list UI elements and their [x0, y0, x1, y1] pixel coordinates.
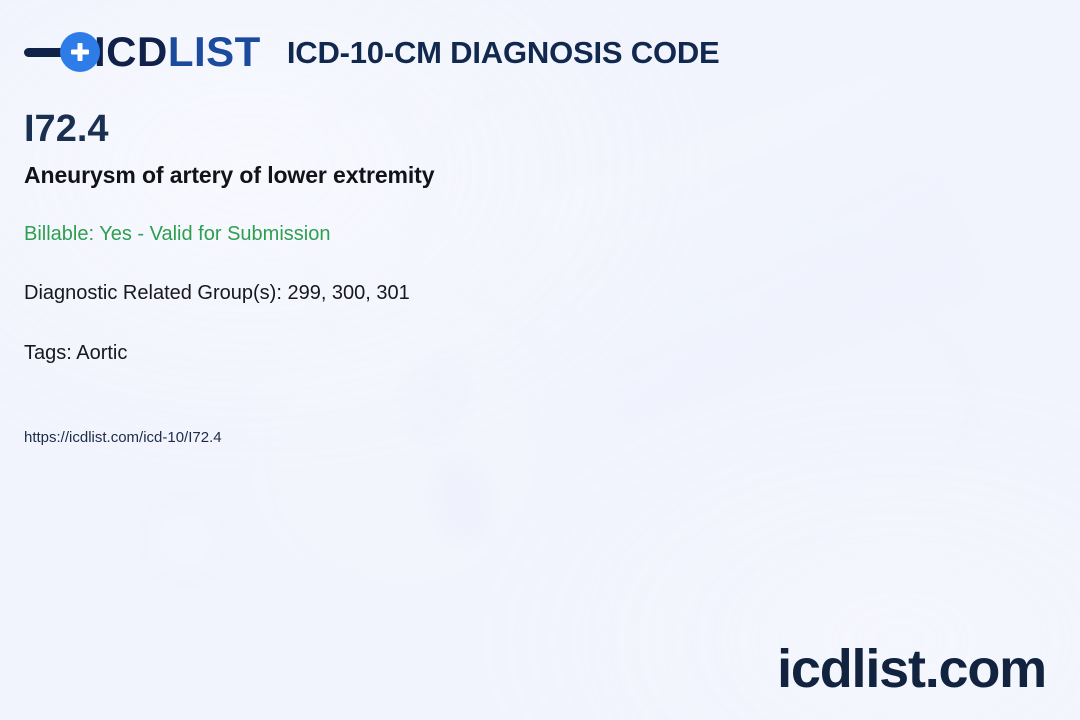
- tags-line: Tags: Aortic: [24, 341, 784, 365]
- page-header: ICDLIST ICD-10-CM DIAGNOSIS CODE: [24, 26, 720, 78]
- billable-status: Billable: Yes - Valid for Submission: [24, 222, 784, 246]
- code-details: I72.4 Aneurysm of artery of lower extrem…: [24, 110, 784, 447]
- logo-text-list: LIST: [168, 28, 261, 75]
- source-url-link[interactable]: https://icdlist.com/icd-10/I72.4: [24, 429, 222, 447]
- icd-code-description: Aneurysm of artery of lower extremity: [24, 162, 784, 190]
- icdlist-logo[interactable]: ICDLIST: [24, 26, 261, 78]
- footer-brand-watermark: icdlist.com: [777, 642, 1046, 696]
- plus-icon: [60, 32, 100, 72]
- logo-text-icd: ICD: [94, 28, 168, 75]
- icd-code-value: I72.4: [24, 110, 784, 150]
- page-title: ICD-10-CM DIAGNOSIS CODE: [287, 37, 720, 68]
- diagnostic-related-groups: Diagnostic Related Group(s): 299, 300, 3…: [24, 281, 784, 305]
- icd-code-card: ICDLIST ICD-10-CM DIAGNOSIS CODE I72.4 A…: [0, 0, 1080, 720]
- logo-wordmark: ICDLIST: [94, 31, 261, 73]
